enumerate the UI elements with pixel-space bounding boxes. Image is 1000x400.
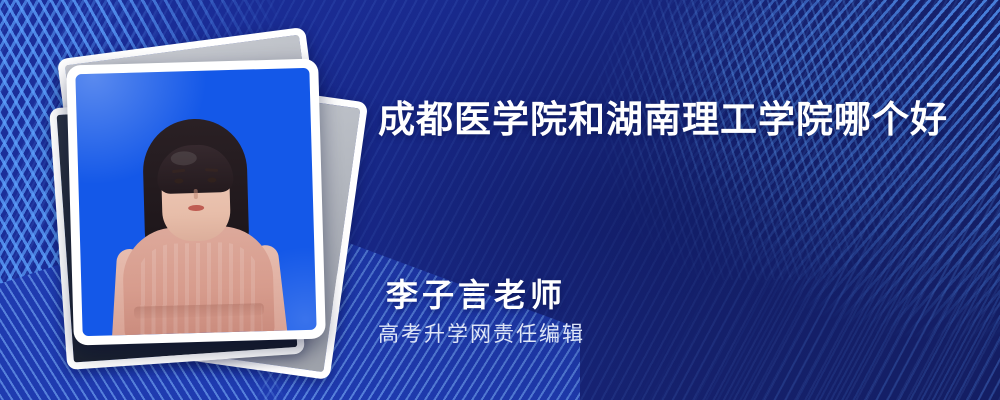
- banner-text-column: 成都医学院和湖南理工学院哪个好 李子言老师 高考升学网责任编辑: [378, 0, 978, 400]
- portrait-dress: [122, 225, 275, 336]
- article-header-banner: 成都医学院和湖南理工学院哪个好 李子言老师 高考升学网责任编辑: [0, 0, 1000, 400]
- portrait-nose: [194, 189, 198, 199]
- author-role: 高考升学网责任编辑: [378, 318, 585, 348]
- page-title: 成都医学院和湖南理工学院哪个好: [378, 98, 978, 142]
- portrait-figure: [75, 68, 316, 336]
- author-photo: [75, 68, 316, 336]
- photo-frame-stack: [52, 46, 352, 356]
- photo-frame-main: [66, 59, 326, 346]
- author-name: 李子言老师: [386, 270, 566, 316]
